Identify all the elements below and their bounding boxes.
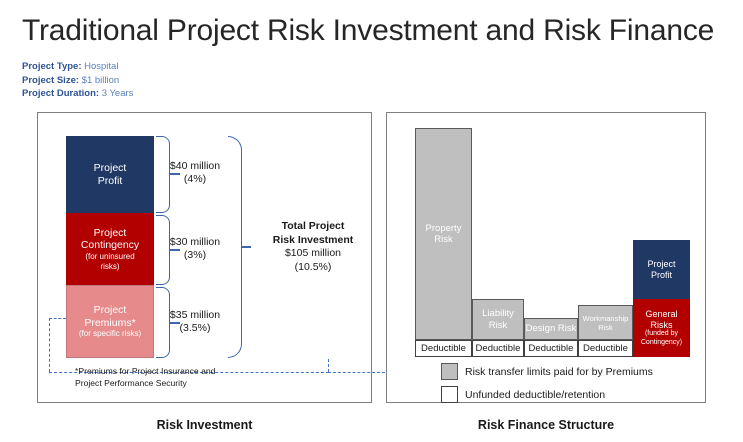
meta-row-project-size: Project Size: $1 billion bbox=[22, 74, 133, 88]
caption-risk-investment: Risk Investment bbox=[37, 418, 372, 432]
meta-label-project-size: Project Size: bbox=[22, 75, 79, 86]
segment-sublabel-line1: (for uninsured bbox=[85, 252, 134, 262]
deductible-liability-risk: Deductible bbox=[472, 340, 524, 357]
brace-total bbox=[228, 136, 242, 358]
legend-swatch-white-icon bbox=[441, 386, 458, 403]
meta-row-project-type: Project Type: Hospital bbox=[22, 60, 133, 74]
bar-property-risk: Property Risk bbox=[415, 128, 472, 340]
segment-sublabel-line1: (for specific risks) bbox=[79, 329, 141, 339]
project-meta: Project Type: Hospital Project Size: $1 … bbox=[22, 60, 133, 101]
bar-design-risk: Design Risk bbox=[524, 318, 578, 340]
segment-label-line2: Contingency bbox=[81, 239, 139, 252]
stack-label-line2: Risks bbox=[651, 320, 673, 331]
legend-swatch-gray-icon bbox=[441, 363, 458, 380]
segment-label-line2: Profit bbox=[98, 175, 123, 188]
stack-label-line1: Project bbox=[647, 259, 675, 270]
legend-item-unfunded: Unfunded deductible/retention bbox=[441, 386, 605, 403]
meta-row-project-duration: Project Duration: 3 Years bbox=[22, 87, 133, 101]
stack-sublabel-line2: Contingency) bbox=[641, 339, 682, 347]
footnote-line2: Project Performance Security bbox=[75, 378, 215, 390]
legend-label: Risk transfer limits paid for by Premium… bbox=[465, 366, 653, 378]
dashed-callout-left-vertical bbox=[49, 318, 50, 372]
meta-value-project-type: Hospital bbox=[81, 61, 118, 72]
bar-workmanship-risk: Workmanship Risk bbox=[578, 305, 633, 340]
deductible-property-risk: Deductible bbox=[415, 340, 472, 357]
segment-label-line1: Project bbox=[94, 227, 127, 240]
page-title: Traditional Project Risk Investment and … bbox=[22, 14, 714, 48]
bar-label-line1: Workmanship bbox=[583, 314, 629, 323]
premiums-footnote: *Premiums for Project Insurance and Proj… bbox=[75, 366, 215, 389]
bar-label-line2: Risk bbox=[583, 323, 629, 332]
deductible-design-risk: Deductible bbox=[524, 340, 578, 357]
dashed-callout-top-hook bbox=[49, 318, 66, 319]
meta-value-project-size: $1 billion bbox=[79, 75, 119, 86]
total-line1: Total Project bbox=[282, 220, 345, 232]
segment-sublabel-line2: risks) bbox=[100, 262, 119, 272]
segment-label-line1: Project bbox=[94, 162, 127, 175]
meta-label-project-type: Project Type: bbox=[22, 61, 81, 72]
total-risk-investment: Total Project Risk Investment $105 milli… bbox=[248, 220, 378, 274]
caption-risk-finance-structure: Risk Finance Structure bbox=[386, 418, 706, 432]
stack-label-line2: Profit bbox=[651, 270, 672, 281]
segment-label-line1: Project bbox=[94, 304, 127, 317]
bar-general-risks: General Risks (funded by Contingency) bbox=[633, 299, 690, 357]
total-line4: (10.5%) bbox=[248, 261, 378, 275]
legend-label: Unfunded deductible/retention bbox=[465, 389, 605, 401]
bar-label-line2: Risk bbox=[426, 234, 462, 246]
bar-label-line1: Design Risk bbox=[526, 323, 577, 335]
bar-label-line2: Risk bbox=[482, 320, 514, 332]
bar-label-line1: Property bbox=[426, 223, 462, 235]
deductible-workmanship-risk: Deductible bbox=[578, 340, 633, 357]
total-line3: $105 million bbox=[248, 247, 378, 261]
bar-liability-risk: Liability Risk bbox=[472, 299, 524, 340]
meta-value-project-duration: 3 Years bbox=[99, 88, 133, 99]
stack-label-line1: General bbox=[645, 309, 677, 320]
meta-label-project-duration: Project Duration: bbox=[22, 88, 99, 99]
bar-general-risks-project-profit: Project Profit bbox=[633, 240, 690, 299]
legend-item-risk-transfer: Risk transfer limits paid for by Premium… bbox=[441, 363, 653, 380]
segment-label-line2: Premiums* bbox=[84, 317, 135, 330]
total-line2: Risk Investment bbox=[273, 234, 354, 246]
bar-label-line1: Liability bbox=[482, 308, 514, 320]
stack-sublabel-line1: (funded by bbox=[645, 330, 678, 338]
dashed-callout-riser bbox=[328, 359, 329, 372]
footnote-line1: *Premiums for Project Insurance and bbox=[75, 366, 215, 378]
